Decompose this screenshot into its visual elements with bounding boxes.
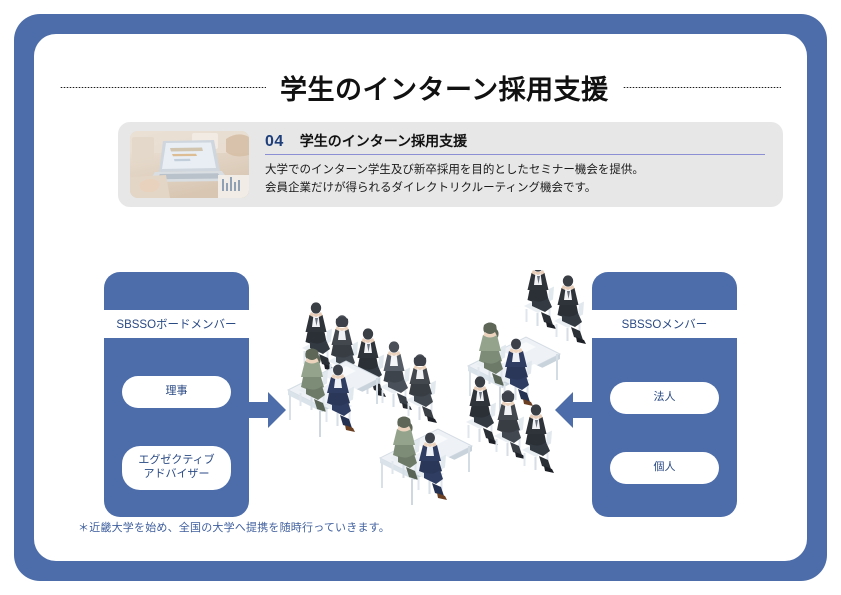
left-panel-header: SBSSOボードメンバー xyxy=(104,310,249,338)
page-title: 学生のインターン採用支援 xyxy=(280,68,609,107)
right-panel-item-0[interactable]: 法人 xyxy=(610,382,719,414)
info-card-description-line2: 会員企業だけが得られるダイレクトリクルーティング機会です。 xyxy=(265,180,765,198)
title-row: 学生のインターン採用支援 xyxy=(60,66,781,108)
title-dots-left xyxy=(60,87,266,88)
right-panel-item-1-label: 個人 xyxy=(654,461,676,475)
left-panel: SBSSOボードメンバー 理事 エグゼクティブ アドバイザー xyxy=(104,272,249,517)
slide: 学生のインターン採用支援 xyxy=(0,0,841,595)
footnote: ＊近畿大学を始め、全国の大学へ提携を随時行っていきます。 xyxy=(78,519,390,535)
info-card-body: 04 学生のインターン採用支援 大学でのインターン学生及び新卒採用を目的としたセ… xyxy=(265,131,771,198)
left-panel-item-0-label: 理事 xyxy=(166,385,188,399)
info-card: 04 学生のインターン採用支援 大学でのインターン学生及び新卒採用を目的としたセ… xyxy=(118,122,783,207)
left-panel-item-1-label-line2: アドバイザー xyxy=(144,468,210,482)
slide-inner-panel: 学生のインターン採用支援 xyxy=(34,34,807,561)
left-panel-item-1[interactable]: エグゼクティブ アドバイザー xyxy=(122,446,231,490)
center-illustration xyxy=(272,270,617,525)
title-dots-right xyxy=(623,87,781,88)
right-panel-header-label: SBSSOメンバー xyxy=(622,316,708,332)
left-panel-item-0[interactable]: 理事 xyxy=(122,376,231,408)
info-card-title: 学生のインターン採用支援 xyxy=(300,131,467,151)
right-panel-item-1[interactable]: 個人 xyxy=(610,452,719,484)
left-panel-item-1-label-line1: エグゼクティブ xyxy=(138,454,214,468)
diagram: SBSSOボードメンバー 理事 エグゼクティブ アドバイザー SBSSOメンバー xyxy=(60,264,781,549)
info-card-heading: 04 学生のインターン採用支援 xyxy=(265,131,765,154)
info-card-thumbnail xyxy=(130,131,249,198)
info-card-description-line1: 大学でのインターン学生及び新卒採用を目的としたセミナー機会を提供。 xyxy=(265,162,765,180)
left-panel-header-label: SBSSOボードメンバー xyxy=(116,316,236,332)
seminar-interview-isometric-illustration-icon xyxy=(272,270,617,525)
info-card-rule xyxy=(265,154,765,156)
info-card-number: 04 xyxy=(265,133,284,151)
right-panel-item-0-label: 法人 xyxy=(654,391,676,405)
slide-frame: 学生のインターン採用支援 xyxy=(14,14,827,581)
laptop-desk-photo-icon xyxy=(130,131,249,198)
